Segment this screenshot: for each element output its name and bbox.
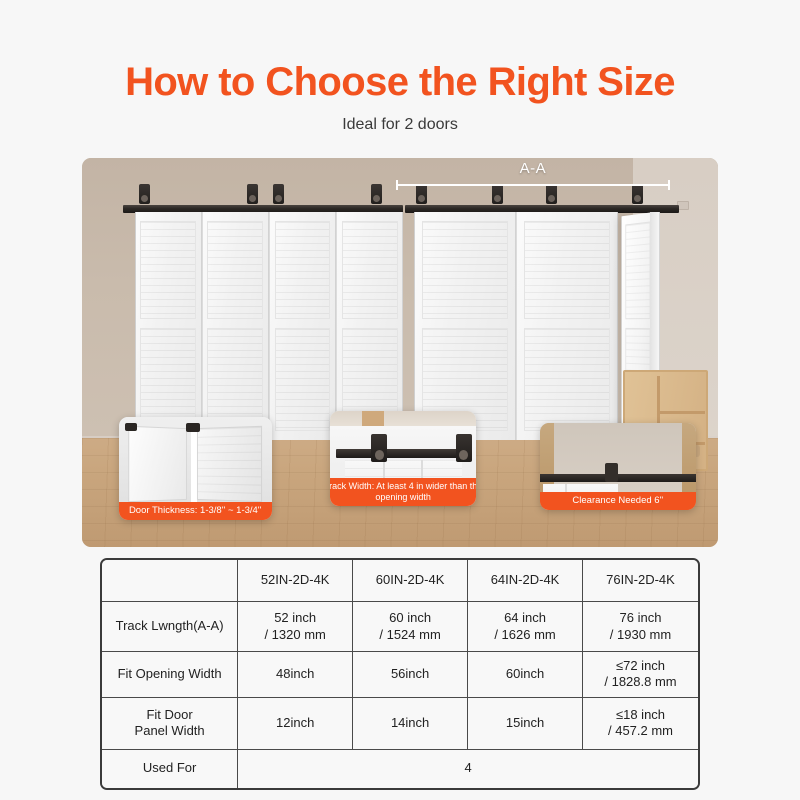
door-group-right	[414, 212, 618, 440]
table-cell: 60inch	[468, 652, 583, 698]
table-cell: 76 inch / 1930 mm	[583, 602, 698, 652]
cell-line-2: / 1524 mm	[355, 627, 465, 643]
row-label-fit-door-panel-width: Fit Door Panel Width	[102, 698, 238, 750]
louver-section	[140, 221, 196, 319]
door-panel	[269, 212, 336, 440]
inset-track-width: Track Width: At least 4 in wider than th…	[330, 411, 476, 506]
table-cell: 64 inch / 1626 mm	[468, 602, 583, 652]
cell-line-1: 60 inch	[355, 610, 465, 626]
cell-line-1: 52 inch	[240, 610, 350, 626]
door-group-left	[135, 212, 403, 440]
louver-section	[524, 221, 610, 319]
row-label-used-for: Used For	[102, 750, 238, 788]
cell-line-1: ≤18 inch	[585, 707, 696, 723]
louver-section	[275, 328, 331, 431]
inset-caption-door-thickness: Door Thickness: 1-3/8'' ~ 1-3/4''	[119, 502, 272, 520]
row-label-track-length: Track Lwngth(A-A)	[102, 602, 238, 652]
row-label-fit-opening-width: Fit Opening Width	[102, 652, 238, 698]
table-cell: 15inch	[468, 698, 583, 750]
roller-icon	[416, 184, 427, 204]
cell-line-2: / 1930 mm	[585, 627, 696, 643]
hardware-icon	[125, 423, 137, 431]
header: How to Choose the Right Size Ideal for 2…	[0, 0, 800, 134]
inset-wood-accent	[362, 411, 384, 426]
door-panel	[202, 212, 269, 440]
louver-section	[140, 328, 196, 431]
table-col-header-0: 52IN-2D-4K	[238, 560, 353, 602]
louver-section	[524, 328, 610, 431]
cell-line-1: 76 inch	[585, 610, 696, 626]
table-cell: 60 inch / 1524 mm	[353, 602, 468, 652]
caption-line-1: Track Width:	[330, 481, 374, 491]
cell-line-1: 56inch	[355, 666, 465, 682]
louver-section	[275, 221, 331, 319]
inset-track-rail	[540, 474, 696, 482]
shelf-divider	[657, 411, 704, 414]
caption-line-2: 1-3/8'' ~ 1-3/4''	[200, 505, 261, 516]
cell-line-1: 12inch	[240, 715, 350, 731]
table-header-row: 52IN-2D-4K 60IN-2D-4K 64IN-2D-4K 76IN-2D…	[102, 560, 698, 602]
table-cell: 14inch	[353, 698, 468, 750]
door-edge-left	[128, 426, 187, 503]
cell-line-1: ≤72 inch	[585, 658, 696, 674]
cell-line-1: 14inch	[355, 715, 465, 731]
roller-icon	[632, 184, 643, 204]
table-cell-used-for-value: 4	[238, 750, 698, 788]
table-cell: 56inch	[353, 652, 468, 698]
table-row: Fit Door Panel Width 12inch 14inch 15inc…	[102, 698, 698, 750]
table-col-header-2: 64IN-2D-4K	[468, 560, 583, 602]
product-size-guide-page: How to Choose the Right Size Ideal for 2…	[0, 0, 800, 800]
inset-clearance-needed: Clearance Needed 6''	[540, 423, 696, 511]
page-title: How to Choose the Right Size	[0, 60, 800, 104]
row-label-line-2: Panel Width	[104, 723, 235, 739]
hardware-icon	[605, 463, 617, 482]
table-cell: 48inch	[238, 652, 353, 698]
caption-line-2: At least 4 in wider than	[376, 481, 467, 491]
louver-section	[625, 221, 650, 319]
louver-section	[422, 221, 508, 319]
roller-icon	[371, 434, 387, 463]
wall-switch-plate	[677, 201, 689, 210]
caption-line-1: Door Thickness:	[129, 505, 197, 516]
louver-section	[342, 221, 398, 319]
door-panel	[414, 212, 516, 440]
dimension-line-aa	[396, 184, 671, 186]
table-row: Used For 4	[102, 750, 698, 788]
roller-icon	[247, 184, 258, 204]
door-panel	[516, 212, 618, 440]
inset-door-thickness: Door Thickness: 1-3/8'' ~ 1-3/4''	[119, 417, 272, 520]
cell-line-1: 15inch	[470, 715, 580, 731]
table-corner-cell	[102, 560, 238, 602]
cell-line-2: / 1828.8 mm	[585, 674, 696, 690]
size-spec-table: 52IN-2D-4K 60IN-2D-4K 64IN-2D-4K 76IN-2D…	[100, 558, 700, 790]
inset-caption-clearance: Clearance Needed 6''	[540, 492, 696, 510]
caption-line-1: Clearance Needed 6''	[572, 495, 663, 506]
roller-icon	[546, 184, 557, 204]
door-edge-right	[197, 426, 262, 503]
table-cell: 52 inch / 1320 mm	[238, 602, 353, 652]
table-cell: 12inch	[238, 698, 353, 750]
cell-line-1: 60inch	[470, 666, 580, 682]
inset-wall	[330, 411, 476, 426]
page-subtitle: Ideal for 2 doors	[0, 116, 800, 134]
table-cell: ≤18 inch / 457.2 mm	[583, 698, 698, 750]
roller-icon	[456, 434, 472, 463]
louver-section	[207, 328, 263, 431]
cell-line-2: / 1320 mm	[240, 627, 350, 643]
roller-icon	[492, 184, 503, 204]
dimension-label-aa: A-A	[396, 160, 671, 177]
cell-line-1: 64 inch	[470, 610, 580, 626]
inset-caption-track-width: Track Width: At least 4 in wider than th…	[330, 478, 476, 506]
roller-icon	[371, 184, 382, 204]
table-col-header-1: 60IN-2D-4K	[353, 560, 468, 602]
door-gap	[191, 425, 196, 503]
door-panel	[135, 212, 202, 440]
roller-icon	[139, 184, 150, 204]
room-photo: A-A Door Thickness: 1-3/8'' ~ 1-3/4''	[82, 158, 718, 547]
cell-line-2: / 1626 mm	[470, 627, 580, 643]
door-panel	[336, 212, 403, 440]
cell-line-2: / 457.2 mm	[585, 723, 696, 739]
cell-line-1: 48inch	[240, 666, 350, 682]
table-row: Track Lwngth(A-A) 52 inch / 1320 mm 60 i…	[102, 602, 698, 652]
roller-icon	[273, 184, 284, 204]
louver-section	[207, 221, 263, 319]
table-col-header-3: 76IN-2D-4K	[583, 560, 698, 602]
table-row: Fit Opening Width 48inch 56inch 60inch ≤…	[102, 652, 698, 698]
inset-track-rail	[336, 449, 471, 459]
hardware-icon	[186, 423, 200, 432]
table-cell: ≤72 inch / 1828.8 mm	[583, 652, 698, 698]
row-label-line-1: Fit Door	[104, 707, 235, 723]
